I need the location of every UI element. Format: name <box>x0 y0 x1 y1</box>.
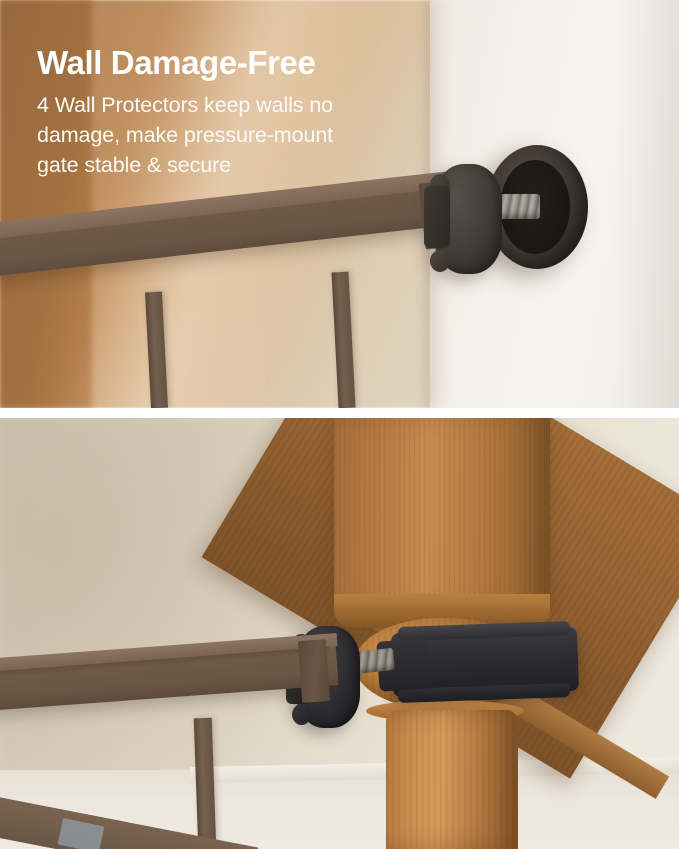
panel-wall-damage-free: Wall Damage-Free 4 Wall Protectors keep … <box>0 0 679 408</box>
panel-divider <box>0 408 679 418</box>
wall-right-shadow <box>612 0 679 408</box>
gate-rail-end-cap <box>298 639 330 703</box>
text-block-top: Wall Damage-Free 4 Wall Protectors keep … <box>37 42 457 180</box>
panel-versatile-y-shape-design: Versatile Y Shape Design 2 Free Y-spindl… <box>0 418 679 849</box>
knob-lobe <box>430 250 450 272</box>
newel-post-lower <box>386 710 518 849</box>
scene-y-spindle <box>0 418 679 849</box>
headline-wall-damage-free: Wall Damage-Free <box>37 42 457 83</box>
newel-post-upper <box>334 418 550 616</box>
body-wall-damage-free: 4 Wall Protectors keep walls no damage, … <box>37 90 457 180</box>
knob-collar <box>424 186 450 248</box>
product-feature-image: Wall Damage-Free 4 Wall Protectors keep … <box>0 0 679 849</box>
knob-lobe <box>292 704 311 725</box>
